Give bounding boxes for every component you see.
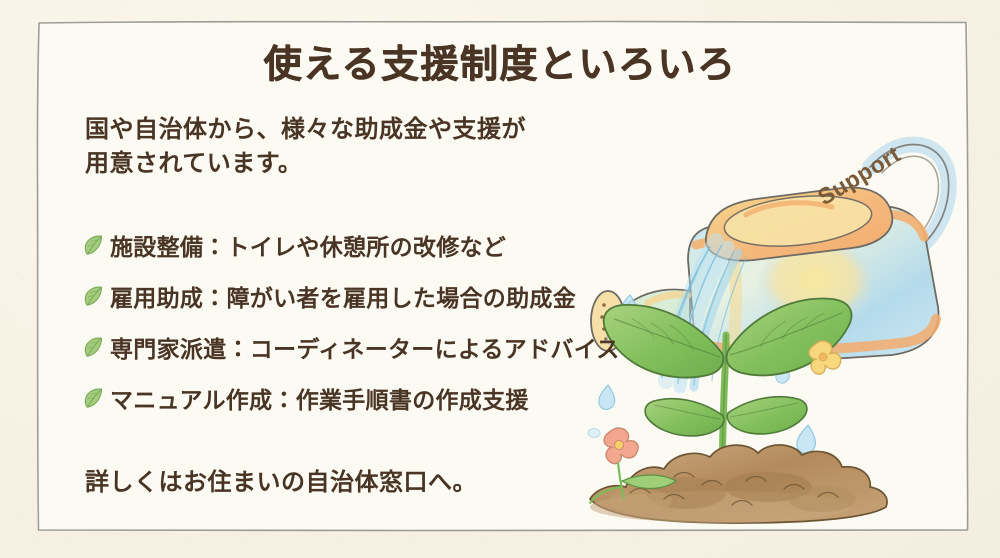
list-item: 専門家派遣：コーディネーターによるアドバイス [80,322,640,372]
list-item-label: 雇用助成：障がい者を雇用した場合の助成金 [110,279,576,313]
leaf-icon [80,232,106,258]
intro-line-1: 国や自治体から、様々な助成金や支援が [85,113,526,147]
slide-root: Support 使える支援制度といろいろ 国や自治体から、様々な助成金や支援が … [0,0,1000,558]
list-item: 雇用助成：障がい者を雇用した場合の助成金 [80,271,640,321]
leaf-icon [80,334,106,360]
leaf-icon [80,385,106,411]
list-item: 施設整備：トイレや休憩所の改修など [80,220,640,270]
intro-paragraph: 国や自治体から、様々な助成金や支援が 用意されています。 [85,113,526,181]
leaf-icon [80,283,106,309]
list-item: マニュアル作成：作業手順書の作成支援 [80,373,640,423]
list-item-label: 専門家派遣：コーディネーターによるアドバイス [110,330,620,364]
intro-line-2: 用意されています。 [85,147,526,181]
list-item-label: 施設整備：トイレや休憩所の改修など [110,228,506,262]
page-title: 使える支援制度といろいろ [0,33,1000,88]
support-list: 施設整備：トイレや休憩所の改修など 雇用助成：障がい者を雇用した場合の助成金 専… [80,220,640,424]
list-item-label: マニュアル作成：作業手順書の作成支援 [110,381,529,415]
closing-text: 詳しくはお住まいの自治体窓口へ。 [85,462,477,497]
